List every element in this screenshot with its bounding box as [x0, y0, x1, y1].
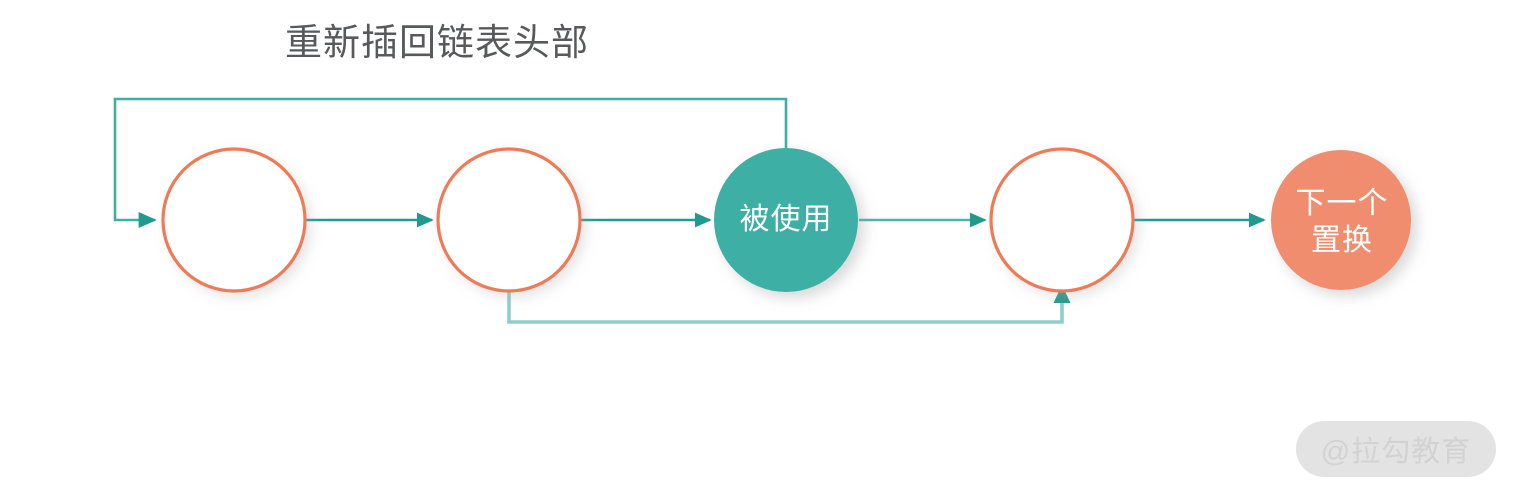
watermark-badge: @拉勾教育: [1296, 421, 1496, 477]
linked-list-diagram: [0, 0, 1523, 500]
node-next-evict-circle[interactable]: [1271, 150, 1411, 290]
watermark-text: @拉勾教育: [1321, 428, 1471, 470]
node-empty-circle-2[interactable]: [438, 149, 580, 291]
diagram-canvas: 重新插回链表头部: [0, 0, 1523, 500]
node-used-circle[interactable]: [714, 148, 858, 292]
node-empty-circle-1[interactable]: [163, 149, 305, 291]
node-empty-circle-4[interactable]: [991, 149, 1133, 291]
